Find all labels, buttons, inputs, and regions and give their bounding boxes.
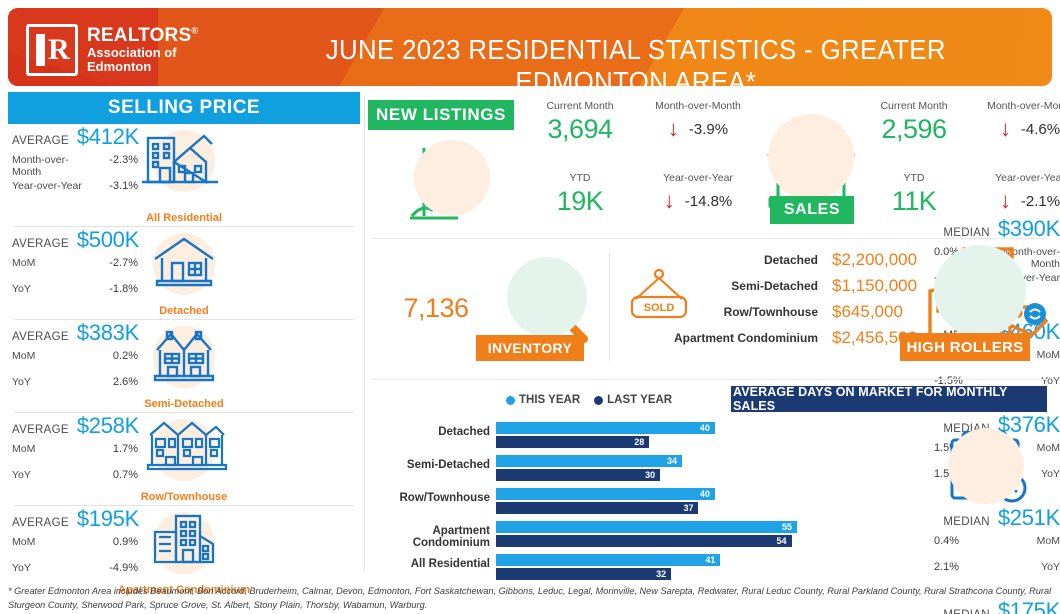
average-label: AVERAGE: [12, 424, 69, 436]
row-label: Detached: [606, 253, 832, 267]
arrow-down-icon: ↓: [1000, 190, 1011, 212]
bar-value: 54: [777, 536, 792, 546]
bar-this-year: 41: [496, 554, 720, 566]
row-value: $645,000: [832, 302, 903, 322]
bar-this-year: 40: [496, 422, 715, 434]
selling-price-title: SELLING PRICE: [8, 92, 360, 124]
chart-category-label: Apartment Condominium: [366, 525, 490, 549]
legend-item-this-year: THIS YEAR: [506, 394, 580, 406]
mom-label: MoM: [12, 443, 86, 455]
row-label: Apartment Condominium: [606, 331, 832, 345]
bar-value: 32: [656, 569, 671, 579]
bar-last-year: 54: [496, 535, 792, 547]
yoy-value: -2.1%: [1021, 193, 1060, 210]
footer-note: * Greater Edmonton Area includes Beaumon…: [8, 584, 1054, 613]
chart-group: All Residential 41 32: [366, 554, 1052, 583]
ytd-value: 19K: [532, 186, 628, 217]
average-label: AVERAGE: [12, 517, 69, 529]
average-label: AVERAGE: [12, 135, 69, 147]
selling-price-block-row-townhouse: AVERAGE $258K MoM1.7% YoY0.7%: [8, 413, 360, 505]
chart-group: Apartment Condominium 55 54: [366, 521, 1052, 550]
chart-category-label: Row/Townhouse: [366, 492, 490, 504]
legend-item-last-year: LAST YEAR: [594, 394, 672, 406]
yoy-label: Year-over-Year: [970, 172, 1060, 184]
bar-value: 40: [700, 489, 715, 499]
ytd-value: 11K: [866, 186, 962, 217]
average-label: AVERAGE: [12, 238, 69, 250]
selling-price-block-detached: AVERAGE $500K MoM-2.7% YoY-1.8%: [8, 227, 360, 319]
arrow-down-icon: ↓: [1000, 118, 1011, 140]
days-on-market-chart: THIS YEAR LAST YEAR AVERAGE DAYS ON MARK…: [366, 380, 1052, 572]
selling-price-panel: SELLING PRICE AVERAGE $412K Month-over-M…: [8, 92, 360, 572]
mom-label: Month-over-Month: [12, 154, 86, 178]
chart-category-label: Semi-Detached: [366, 459, 490, 471]
legend-swatch-icon: [506, 396, 515, 405]
bar-value: 40: [700, 423, 715, 433]
ytd-label: YTD: [866, 172, 962, 184]
current-month-value: 3,694: [532, 114, 628, 145]
arrow-down-icon: ↓: [668, 118, 679, 140]
category-label: All Residential: [8, 212, 360, 224]
all-residential-icon: [124, 128, 244, 195]
category-label: Detached: [8, 305, 360, 317]
for-sale-sign-icon: [402, 136, 498, 228]
ytd-label: YTD: [532, 172, 628, 184]
yoy-label: Year-over-Year: [12, 180, 86, 192]
legend-label: LAST YEAR: [607, 394, 672, 406]
inventory-value: 7,136: [376, 293, 496, 324]
category-label: Semi-Detached: [8, 398, 360, 410]
yoy-label: Year-over-Year: [636, 172, 760, 184]
bar-value: 28: [634, 437, 649, 447]
selling-price-block-semi-detached: AVERAGE $383K MoM0.2% YoY2.6%: [8, 320, 360, 412]
mom-label: MoM: [12, 257, 86, 269]
legend-label: THIS YEAR: [519, 394, 580, 406]
infographic-page: R REALTORS® Association of Edmonton JUNE…: [0, 0, 1060, 614]
yoy-value: -14.8%: [685, 193, 733, 210]
yoy-label: YoY: [12, 469, 86, 481]
average-label: AVERAGE: [12, 331, 69, 343]
page-header: R REALTORS® Association of Edmonton JUNE…: [8, 8, 1052, 86]
mom-value: -4.6%: [1021, 121, 1060, 138]
inventory-and-high-rollers-row: 7,136 INVENTORY SOL: [366, 239, 1052, 379]
sales-badge: SALES: [770, 196, 854, 224]
bar-last-year: 37: [496, 502, 698, 514]
row-townhouse-icon: [124, 417, 244, 480]
selling-price-block-all-residential: AVERAGE $412K Month-over-Month-2.3% Year…: [8, 124, 360, 226]
chart-title: AVERAGE DAYS ON MARKET FOR MONTHLY SALES: [731, 386, 1047, 412]
yoy-label: YoY: [12, 283, 86, 295]
mom-label: Month-over-Month: [970, 100, 1060, 112]
new-listings-and-sales-row: NEW LISTINGS Current Month: [366, 92, 1052, 238]
bar-value: 41: [705, 555, 720, 565]
chart-category-label: All Residential: [366, 558, 490, 570]
yoy-label: YoY: [12, 376, 86, 388]
row-value: $2,200,000: [832, 250, 917, 270]
legend-swatch-icon: [594, 396, 603, 405]
bar-this-year: 55: [496, 521, 797, 533]
row-value: $1,150,000: [832, 276, 917, 296]
category-label: Row/Townhouse: [8, 491, 360, 503]
stats-area: NEW LISTINGS Current Month: [366, 92, 1052, 572]
bar-last-year: 28: [496, 436, 649, 448]
current-month-label: Current Month: [866, 100, 962, 112]
row-label: Row/Townhouse: [606, 305, 832, 319]
panel-divider: [364, 96, 365, 572]
chart-category-label: Detached: [366, 426, 490, 438]
current-month-label: Current Month: [532, 100, 628, 112]
apartment-condominium-icon: [124, 510, 244, 573]
mom-value: -3.9%: [689, 121, 728, 138]
arrow-down-icon: ↓: [664, 190, 675, 212]
bar-last-year: 32: [496, 568, 671, 580]
current-month-value: 2,596: [866, 114, 962, 145]
bar-value: 30: [645, 470, 660, 480]
bar-value: 55: [782, 522, 797, 532]
mom-label: Month-over-Month: [636, 100, 760, 112]
bar-value: 37: [683, 503, 698, 513]
high-rollers-badge: HIGH ROLLERS: [900, 333, 1030, 361]
chart-legend: THIS YEAR LAST YEAR: [506, 394, 672, 406]
row-label: Semi-Detached: [606, 279, 832, 293]
new-listings-badge: NEW LISTINGS: [368, 100, 514, 130]
yoy-label: YoY: [12, 562, 86, 574]
bar-value: 34: [667, 456, 682, 466]
semi-detached-house-icon: [124, 324, 244, 389]
mom-label: MoM: [12, 350, 86, 362]
detached-house-icon: [124, 231, 244, 296]
inventory-badge: INVENTORY: [476, 335, 584, 361]
bar-this-year: 40: [496, 488, 715, 500]
bar-last-year: 30: [496, 469, 660, 481]
bar-this-year: 34: [496, 455, 682, 467]
page-title: JUNE 2023 RESIDENTIAL STATISTICS - GREAT…: [50, 34, 1010, 86]
calendar-clock-house-icon: [936, 424, 1036, 512]
mom-label: MoM: [12, 536, 86, 548]
